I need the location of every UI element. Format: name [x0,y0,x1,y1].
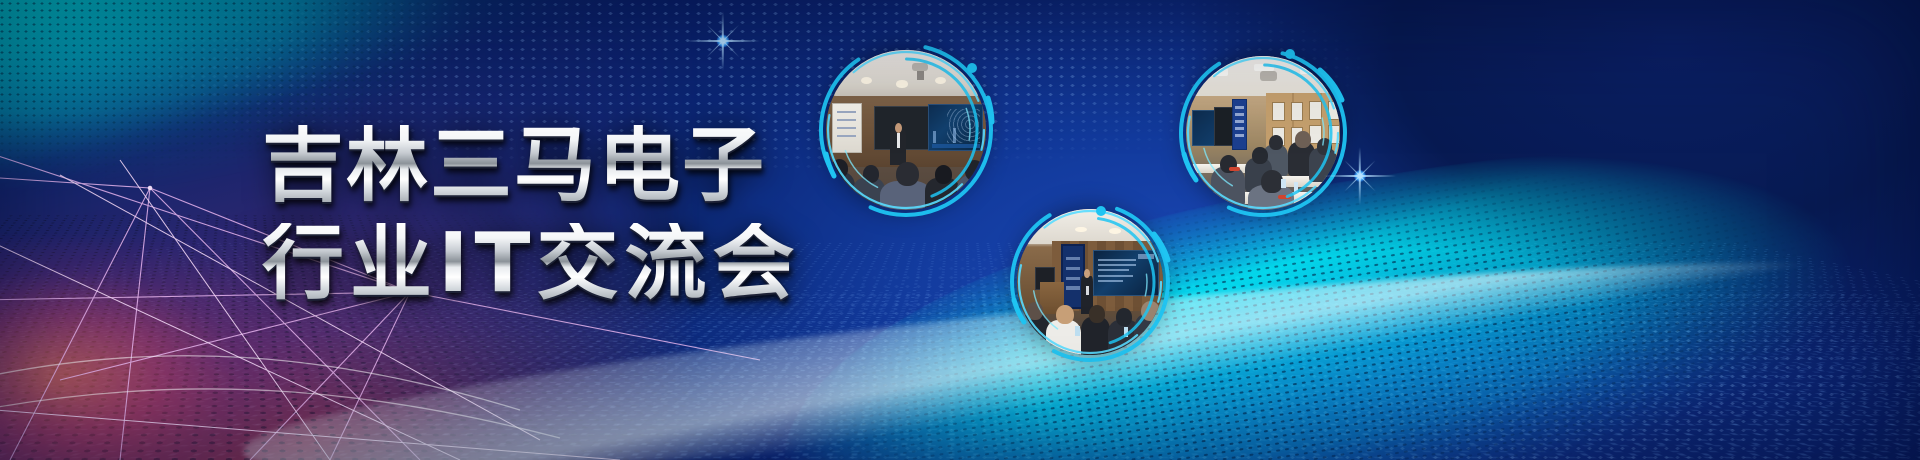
hud-node-dot [1096,206,1106,216]
hud-ring-decoration [1004,196,1176,368]
hud-ring-decoration [812,36,1000,224]
title-line-1: 吉林三马电子 [262,125,802,207]
hud-ring-decoration [1172,42,1354,224]
photo-lecture-hall[interactable] [812,36,1000,224]
banner-root: 吉林三马电子 行业IT交流会 [0,0,1920,460]
photo-seminar-room[interactable] [1172,42,1354,224]
photo-training-room[interactable] [1004,196,1176,368]
hud-node-dot [967,63,977,73]
title-line-2: 行业IT交流会 [262,223,802,305]
headline-block: 吉林三马电子 行业IT交流会 [262,125,802,305]
hud-node-dot [1285,49,1295,59]
